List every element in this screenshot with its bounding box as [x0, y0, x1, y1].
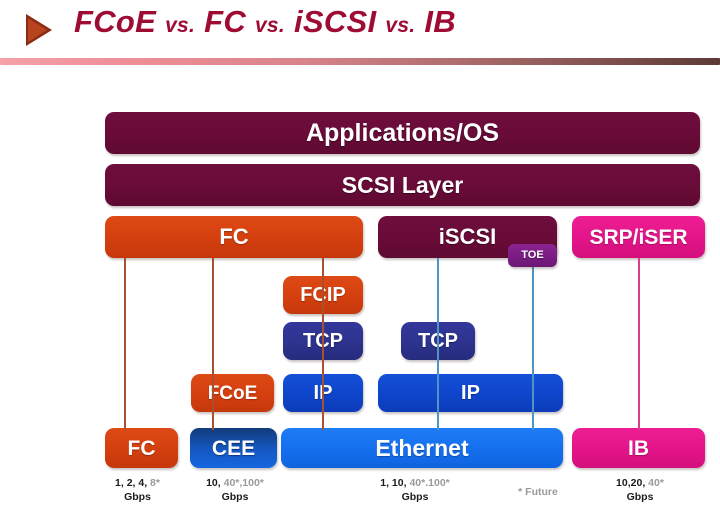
speed-label-ethernet: 1, 10, 40*.100* Gbps: [350, 476, 480, 504]
title-vs-1: vs.: [165, 14, 195, 37]
speed-rates-ib: 10,20,: [616, 477, 648, 489]
layer-box-fc-physical: FC: [105, 428, 178, 468]
connector-fc-to-fcoe-cee: [212, 258, 214, 430]
speed-future-rates-fc: 8*: [150, 477, 160, 489]
page-title: FCoE vs. FC vs. iSCSI vs. IB: [74, 4, 456, 40]
title-part-fc: FC: [204, 4, 246, 39]
layer-box-ib: IB: [572, 428, 705, 468]
speed-future-rates-ib: 40*: [648, 477, 664, 489]
speed-label-fc: 1, 2, 4, 8* Gbps: [95, 476, 180, 504]
slide-header: FCoE vs. FC vs. iSCSI vs. IB: [0, 0, 720, 72]
speed-future-rates-ethernet: 40*.100*: [409, 477, 449, 489]
layer-box-fcoe: FCoE: [191, 374, 274, 412]
speed-rates-cee: 10,: [206, 477, 224, 489]
speed-unit-fc: Gbps: [95, 490, 180, 504]
layer-box-applications-os: Applications/OS: [105, 112, 700, 154]
title-vs-3: vs.: [385, 14, 415, 37]
speed-rates-ethernet: 1, 10,: [380, 477, 409, 489]
layer-box-srp-iser: SRP/iSER: [572, 216, 705, 258]
speed-unit-cee: Gbps: [180, 490, 290, 504]
layer-box-cee: CEE: [190, 428, 277, 468]
title-vs-2: vs.: [255, 14, 285, 37]
protocol-stack-diagram: Applications/OS SCSI Layer FC iSCSI TOE …: [0, 72, 720, 527]
connector-fc-to-fcip-ethernet: [322, 258, 324, 430]
connector-iscsi-to-tcp-ethernet: [437, 258, 439, 430]
layer-box-toe: TOE: [508, 244, 557, 267]
layer-box-ethernet: Ethernet: [281, 428, 563, 468]
title-divider-rule: [0, 58, 720, 65]
title-part-iscsi: iSCSI: [294, 4, 376, 39]
speed-future-rates-cee: 40*,100*: [224, 477, 264, 489]
future-footnote: * Future: [498, 486, 578, 498]
title-part-ib: IB: [424, 4, 456, 39]
layer-box-fc-protocol: FC: [105, 216, 363, 258]
speed-label-ib: 10,20, 40* Gbps: [580, 476, 700, 504]
layer-box-ip-iscsi: IP: [378, 374, 563, 412]
connector-toe-to-ethernet: [532, 258, 534, 430]
title-part-fcoe: FCoE: [74, 4, 156, 39]
connector-fc-to-fc-physical: [124, 258, 126, 430]
speed-label-cee: 10, 40*,100* Gbps: [180, 476, 290, 504]
speed-unit-ib: Gbps: [580, 490, 700, 504]
triangle-right-icon: [26, 14, 52, 46]
speed-unit-ethernet: Gbps: [350, 490, 480, 504]
connector-srp-iser-to-ib: [638, 258, 640, 430]
speed-rates-fc: 1, 2, 4,: [115, 477, 150, 489]
layer-box-scsi-layer: SCSI Layer: [105, 164, 700, 206]
